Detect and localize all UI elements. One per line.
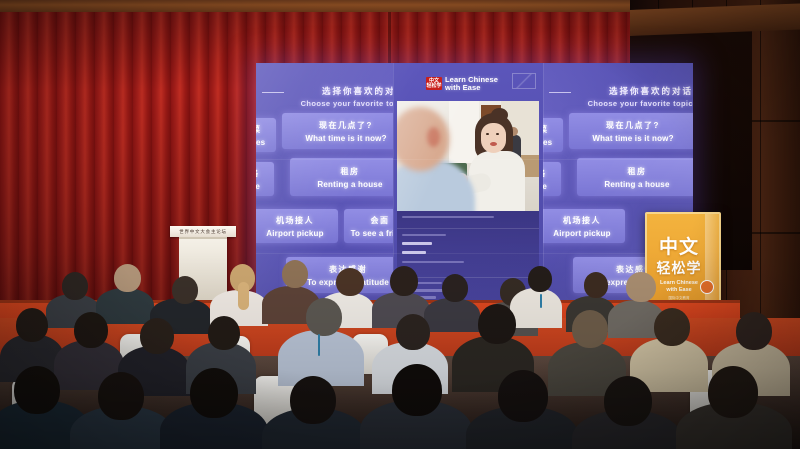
chinese-logo-mark-icon: 中文 轻松学: [426, 77, 442, 90]
audience-seating-area: [0, 250, 800, 449]
transcript-pinyin: [402, 242, 432, 245]
headline-cn: 选择你喜欢的对话: [256, 85, 406, 97]
topic-en: price: [256, 182, 260, 191]
topic-tile-time[interactable]: 现在几点了? What time is it now?: [569, 113, 693, 149]
screen-glare: [397, 101, 539, 211]
headline-cn: 选择你喜欢的对话: [543, 85, 693, 97]
topic-en: Renting a house: [317, 180, 382, 189]
brand-name: Learn Chinese with Ease: [445, 76, 498, 92]
topic-en: dishes: [256, 138, 265, 147]
topic-cn: 现在几点了?: [319, 120, 373, 131]
topic-headline-left: 选择你喜欢的对话 Choose your favorite topic: [256, 85, 406, 108]
transcript-pinyin: [402, 234, 446, 236]
topic-tile-partial-price[interactable]: 价格 price: [543, 162, 561, 196]
topic-en: Airport pickup: [553, 229, 610, 238]
podium-sign-text: 世界中文大会主论坛: [179, 229, 227, 235]
topic-tile-time[interactable]: 现在几点了? What time is it now?: [282, 113, 406, 149]
brand-line-2: with Ease: [445, 84, 498, 92]
topic-cn: 租房: [628, 166, 647, 177]
topic-en: What time is it now?: [305, 134, 386, 143]
topic-cn: 机场接人: [276, 215, 314, 226]
topic-cn: 价格: [256, 168, 260, 179]
dialogue-video-player[interactable]: [397, 101, 539, 211]
app-brand-logo: 中文 轻松学 Learn Chinese with Ease: [426, 76, 498, 92]
topic-en: Airport pickup: [266, 229, 323, 238]
topic-tile-airport[interactable]: 机场接人 Airport pickup: [256, 209, 338, 243]
topic-tile-renting[interactable]: 租房 Renting a house: [290, 158, 406, 196]
logo-mark-cn-bottom: 轻松学: [426, 84, 441, 89]
headline-en: Choose your favorite topic: [256, 99, 406, 108]
decorative-corner-frame: [512, 73, 536, 89]
topic-cn: 现在几点了?: [606, 120, 660, 131]
topic-tile-partial-dishes[interactable]: 点菜 dishes: [256, 118, 276, 152]
topic-tile-airport[interactable]: 机场接人 Airport pickup: [543, 209, 625, 243]
headline-en: Choose your favorite topic: [543, 99, 693, 108]
podium-edge: [179, 237, 227, 239]
topic-tile-renting[interactable]: 租房 Renting a house: [577, 158, 693, 196]
topic-tile-partial-dishes[interactable]: 点菜 dishes: [543, 118, 563, 152]
topic-en: dishes: [543, 138, 552, 147]
topic-en: What time is it now?: [592, 134, 673, 143]
podium-sign: 世界中文大会主论坛: [170, 226, 236, 237]
topic-cn: 租房: [341, 166, 360, 177]
topic-tile-partial-price[interactable]: 价格 price: [256, 162, 274, 196]
screenshot-root: 选择你喜欢的对话 Choose your favorite topic 点菜 d…: [0, 0, 800, 449]
topic-en: Renting a house: [604, 180, 669, 189]
topic-cn: 机场接人: [563, 215, 601, 226]
topic-headline-right: 选择你喜欢的对话 Choose your favorite topic: [543, 85, 693, 108]
topic-cn: 点菜: [256, 124, 262, 135]
transcript-line: [402, 216, 494, 218]
topic-cn: 会面: [371, 215, 390, 226]
